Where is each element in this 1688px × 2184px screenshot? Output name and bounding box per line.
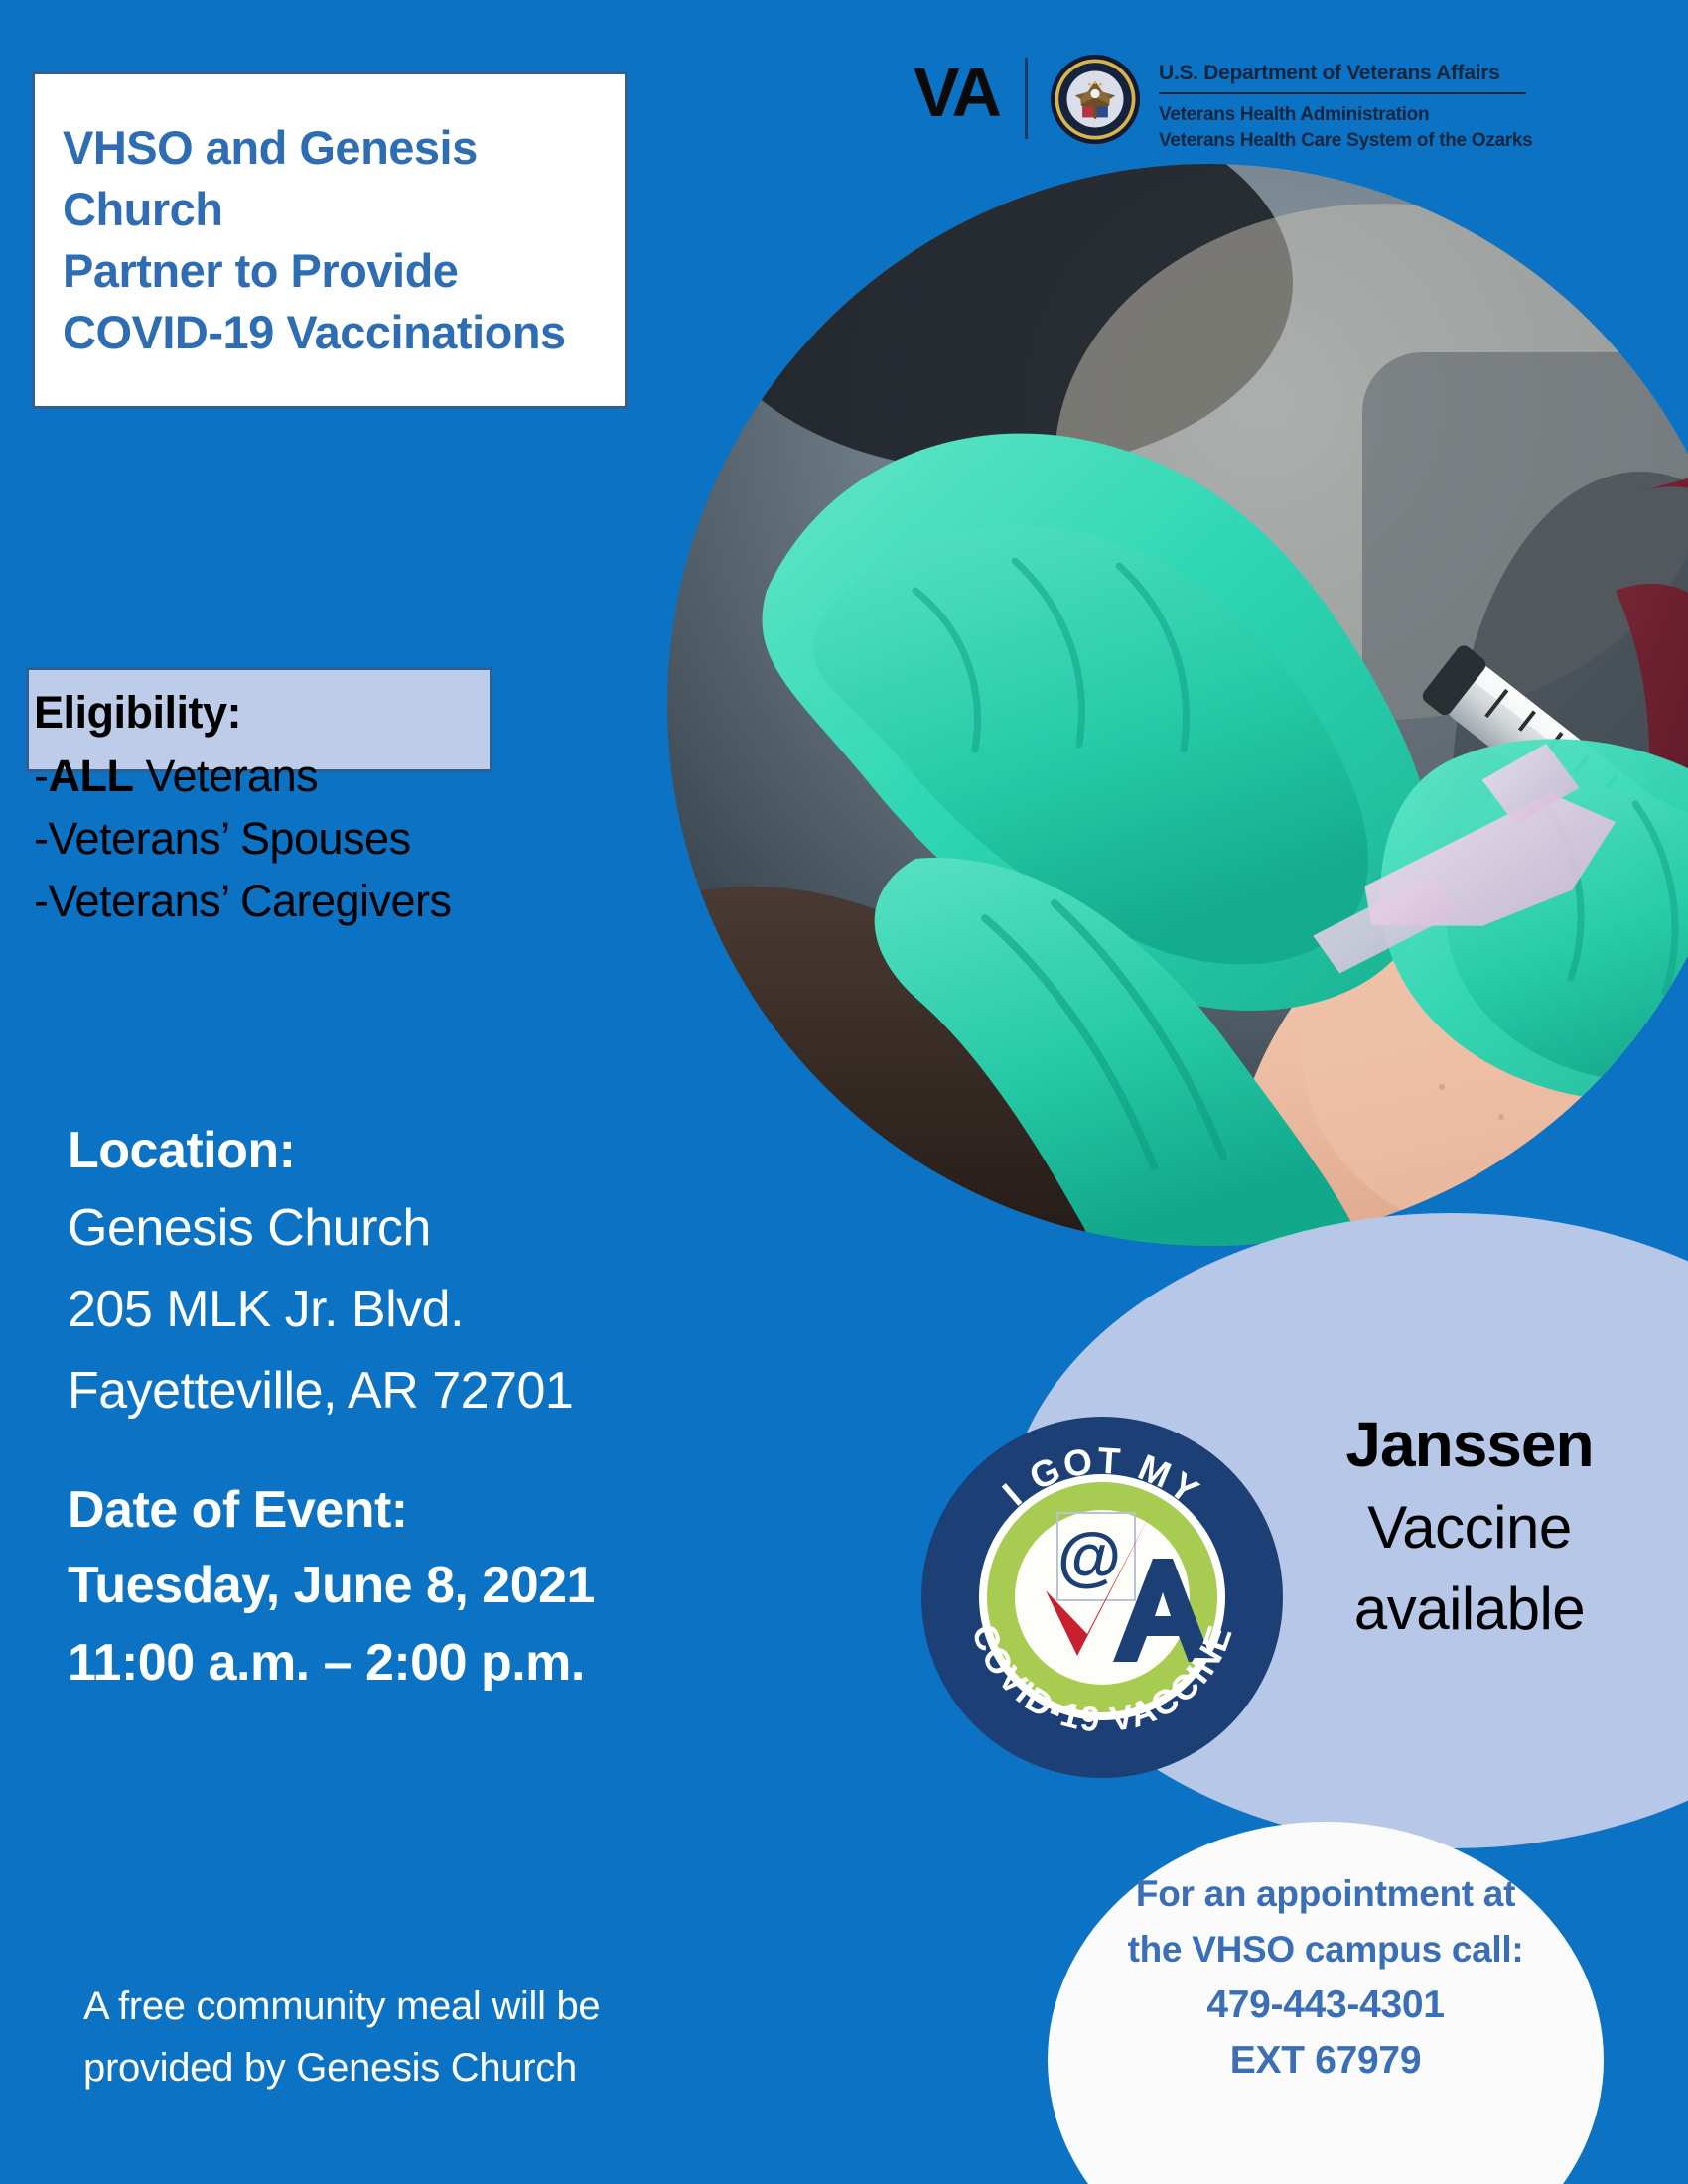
meal-note-line-1: A free community meal will be	[83, 1976, 778, 2037]
logo-divider	[1025, 58, 1028, 139]
eligibility-item-0-rest: Veterans	[133, 751, 318, 801]
covid-vaccine-badge-icon: @ I GOT MY COVID-19 VACCINE	[918, 1414, 1286, 1781]
vaccination-photo	[667, 164, 1688, 1246]
va-logo-header: VA U.S. Department of Veterans Affairs	[914, 58, 1532, 154]
event-time: 11:00 a.m. – 2:00 p.m.	[68, 1624, 782, 1702]
eligibility-item-2-rest: Veterans’ Caregivers	[49, 876, 452, 926]
eligibility-item-2: -Veterans’ Caregivers	[34, 870, 669, 932]
svg-text:@: @	[1057, 1519, 1121, 1592]
title-line-3: COVID-19 Vaccinations	[63, 302, 599, 363]
location-venue: Genesis Church	[68, 1187, 782, 1269]
va-department-label: U.S. Department of Veterans Affairs	[1159, 62, 1532, 85]
va-agency-text: U.S. Department of Veterans Affairs Vete…	[1159, 58, 1532, 154]
appointment-info: For an appointment at the VHSO campus ca…	[1062, 1866, 1589, 2089]
location-heading: Location:	[68, 1114, 782, 1187]
vaccine-label-line-2: Vaccine	[1271, 1487, 1668, 1569]
meal-note: A free community meal will be provided b…	[83, 1976, 778, 2099]
eligibility-item-1-prefix: -	[34, 813, 49, 864]
appointment-line-2: the VHSO campus call:	[1062, 1922, 1589, 1978]
appointment-line-1: For an appointment at	[1062, 1866, 1589, 1922]
appointment-extension: EXT 67979	[1062, 2033, 1589, 2089]
eligibility-heading: Eligibility:	[34, 681, 669, 745]
title-line-2: Partner to Provide	[63, 240, 599, 302]
va-text-rule	[1159, 92, 1526, 94]
meal-note-line-2: provided by Genesis Church	[83, 2037, 778, 2099]
vaccine-brand-block: Janssen Vaccine available	[1271, 1402, 1668, 1650]
eligibility-item-2-prefix: -	[34, 876, 49, 926]
vaccine-brand-name: Janssen	[1271, 1402, 1668, 1487]
vaccine-label-line-3: available	[1271, 1569, 1668, 1650]
eligibility-item-1-rest: Veterans’ Spouses	[49, 813, 411, 864]
eligibility-content: Eligibility: -ALL Veterans -Veterans’ Sp…	[34, 681, 669, 932]
va-system-label: Veterans Health Care System of the Ozark…	[1159, 128, 1532, 154]
event-date: Tuesday, June 8, 2021	[68, 1547, 782, 1624]
page-title: VHSO and Genesis Church Partner to Provi…	[35, 117, 625, 363]
appointment-phone[interactable]: 479-443-4301	[1062, 1978, 1589, 2033]
event-details: Location: Genesis Church 205 MLK Jr. Blv…	[68, 1114, 782, 1702]
location-street: 205 MLK Jr. Blvd.	[68, 1269, 782, 1350]
event-date-heading: Date of Event:	[68, 1473, 782, 1547]
eligibility-item-0-bold: ALL	[49, 751, 134, 801]
eligibility-item-0-prefix: -	[34, 751, 49, 801]
title-box: VHSO and Genesis Church Partner to Provi…	[32, 71, 628, 409]
location-city-state-zip: Fayetteville, AR 72701	[68, 1350, 782, 1432]
title-line-1: VHSO and Genesis Church	[63, 117, 599, 240]
va-administration-label: Veterans Health Administration	[1159, 102, 1532, 128]
flyer-page: VA U.S. Department of Veterans Affairs	[0, 0, 1688, 2184]
eligibility-item-0: -ALL Veterans	[34, 745, 669, 807]
va-seal-icon	[1050, 54, 1141, 145]
details-spacer	[68, 1432, 782, 1473]
eligibility-item-1: -Veterans’ Spouses	[34, 807, 669, 870]
va-wordmark: VA	[914, 58, 999, 127]
